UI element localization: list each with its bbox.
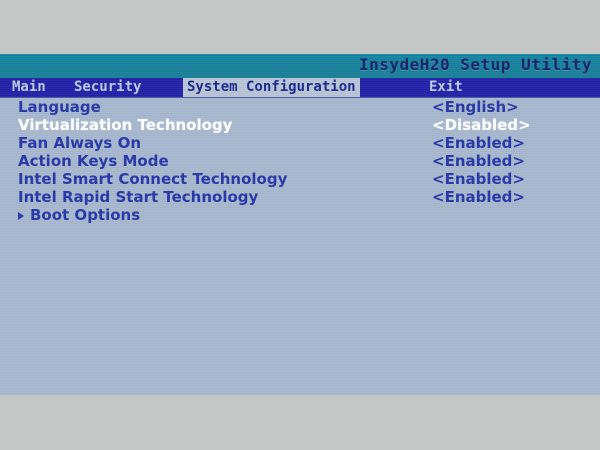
menu-bar: MainSecuritySystem ConfigurationExit xyxy=(0,78,600,98)
option-label: Virtualization Technology xyxy=(18,116,232,134)
option-row[interactable]: Intel Rapid Start Technology<Enabled> xyxy=(0,188,600,206)
option-row[interactable]: Virtualization Technology<Disabled> xyxy=(0,116,600,134)
option-value[interactable]: <Enabled> xyxy=(432,152,525,170)
bios-setup-screenshot: InsydeH20 Setup Utility MainSecuritySyst… xyxy=(0,0,600,450)
menu-tab-security[interactable]: Security xyxy=(70,78,145,97)
option-label: Boot Options xyxy=(30,206,140,224)
option-value[interactable]: <Disabled> xyxy=(432,116,531,134)
bios-screen: InsydeH20 Setup Utility MainSecuritySyst… xyxy=(0,54,600,395)
option-label: Language xyxy=(18,98,101,116)
options-list: Language<English>Virtualization Technolo… xyxy=(0,98,600,395)
option-row[interactable]: Intel Smart Connect Technology<Enabled> xyxy=(0,170,600,188)
option-label: Intel Smart Connect Technology xyxy=(18,170,287,188)
option-label: Action Keys Mode xyxy=(18,152,169,170)
option-value[interactable]: <English> xyxy=(432,98,519,116)
menu-tab-system-configuration[interactable]: System Configuration xyxy=(183,78,360,97)
option-row[interactable]: Boot Options xyxy=(0,206,600,224)
option-row[interactable]: Action Keys Mode<Enabled> xyxy=(0,152,600,170)
option-value[interactable]: <Enabled> xyxy=(432,170,525,188)
menu-tab-exit[interactable]: Exit xyxy=(425,78,467,97)
option-label: Intel Rapid Start Technology xyxy=(18,188,258,206)
utility-title: InsydeH20 Setup Utility xyxy=(359,55,592,74)
title-bar: InsydeH20 Setup Utility xyxy=(0,54,600,78)
option-row[interactable]: Fan Always On<Enabled> xyxy=(0,134,600,152)
option-label: Fan Always On xyxy=(18,134,141,152)
option-value[interactable]: <Enabled> xyxy=(432,134,525,152)
option-row[interactable]: Language<English> xyxy=(0,98,600,116)
menu-tab-main[interactable]: Main xyxy=(8,78,50,97)
submenu-arrow-icon xyxy=(18,212,24,220)
option-value[interactable]: <Enabled> xyxy=(432,188,525,206)
